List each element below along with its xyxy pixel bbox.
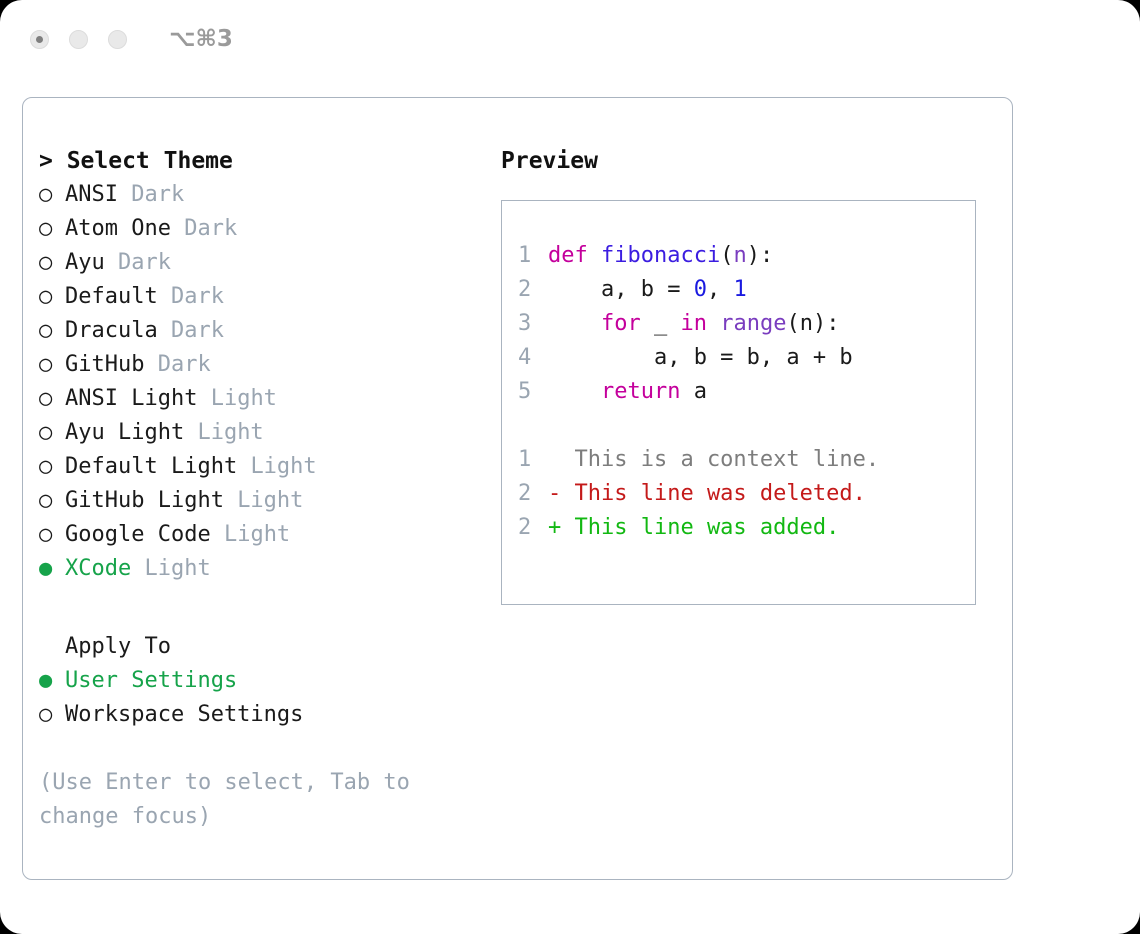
code-diff-gap <box>518 409 975 443</box>
radio-selected-icon: ● <box>39 552 65 586</box>
diff-line-text: - This line was deleted. <box>548 481 866 506</box>
radio-unselected-icon: ○ <box>39 382 65 416</box>
apply-to-option-label: Workspace Settings <box>65 702 303 727</box>
keyboard-hint-text: (Use Enter to select, Tab to change focu… <box>39 766 439 834</box>
theme-option-category: Light <box>197 420 263 445</box>
window-dot-active-icon[interactable] <box>30 30 49 49</box>
radio-unselected-icon: ○ <box>39 178 65 212</box>
theme-option-ayu-light[interactable]: ○Ayu Light Light <box>39 416 479 450</box>
theme-option-label: Ayu Light <box>65 420 197 445</box>
theme-option-label: XCode <box>65 556 144 581</box>
diff-line-text: This is a context line. <box>548 447 879 472</box>
code-token: (n): <box>786 311 839 336</box>
theme-option-ansi[interactable]: ○ANSI Dark <box>39 178 479 212</box>
theme-option-label: Google Code <box>65 522 224 547</box>
theme-option-default-light[interactable]: ○Default Light Light <box>39 450 479 484</box>
theme-option-category: Light <box>224 522 290 547</box>
code-token: a <box>680 379 707 404</box>
theme-option-list: ○ANSI Dark○Atom One Dark○Ayu Dark○Defaul… <box>39 178 479 586</box>
theme-option-ansi-light[interactable]: ○ANSI Light Light <box>39 382 479 416</box>
code-token: _ <box>641 311 681 336</box>
code-token: a, b = <box>548 277 694 302</box>
radio-unselected-icon: ○ <box>39 416 65 450</box>
diff-sample: 1 This is a context line.2- This line wa… <box>518 443 975 545</box>
keyboard-shortcut-label: ⌥⌘3 <box>169 26 233 52</box>
radio-unselected-icon: ○ <box>39 450 65 484</box>
code-token: 0 <box>694 277 707 302</box>
theme-option-category: Light <box>237 488 303 513</box>
window-dot-second-icon[interactable] <box>69 30 88 49</box>
code-line: 5 return a <box>518 375 975 409</box>
code-line: 3 for _ in range(n): <box>518 307 975 341</box>
theme-option-google-code[interactable]: ○Google Code Light <box>39 518 479 552</box>
code-line-number: 5 <box>518 375 548 409</box>
diff-line-number: 2 <box>518 477 548 511</box>
apply-to-option-label: User Settings <box>65 668 237 693</box>
code-line: 4 a, b = b, a + b <box>518 341 975 375</box>
theme-option-atom-one[interactable]: ○Atom One Dark <box>39 212 479 246</box>
theme-option-label: Default <box>65 284 171 309</box>
code-token: ( <box>720 243 733 268</box>
theme-option-category: Dark <box>184 216 237 241</box>
theme-picker-column: > Select Theme ○ANSI Dark○Atom One Dark○… <box>39 144 479 834</box>
code-line-number: 2 <box>518 273 548 307</box>
app-window: ⌥⌘3 > Select Theme ○ANSI Dark○Atom One D… <box>0 0 1140 934</box>
window-controls <box>30 30 127 49</box>
preview-title: Preview <box>501 144 1001 178</box>
theme-option-label: ANSI Light <box>65 386 211 411</box>
theme-option-category: Dark <box>118 250 171 275</box>
list-spacer <box>39 586 479 630</box>
theme-option-category: Dark <box>131 182 184 207</box>
radio-unselected-icon: ○ <box>39 314 65 348</box>
main-panel: > Select Theme ○ANSI Dark○Atom One Dark○… <box>22 97 1013 880</box>
theme-option-label: GitHub <box>65 352 158 377</box>
theme-option-label: Dracula <box>65 318 171 343</box>
theme-option-label: Ayu <box>65 250 118 275</box>
theme-option-label: GitHub Light <box>65 488 237 513</box>
code-line: 1def fibonacci(n): <box>518 239 975 273</box>
apply-to-option-user-settings[interactable]: ●User Settings <box>39 664 479 698</box>
theme-option-category: Dark <box>158 352 211 377</box>
radio-unselected-icon: ○ <box>39 348 65 382</box>
theme-option-default[interactable]: ○Default Dark <box>39 280 479 314</box>
theme-option-label: ANSI <box>65 182 131 207</box>
theme-option-category: Dark <box>171 284 224 309</box>
code-token: return <box>601 379 680 404</box>
select-theme-header: > Select Theme <box>39 144 479 178</box>
diff-line-number: 2 <box>518 511 548 545</box>
radio-unselected-icon: ○ <box>39 246 65 280</box>
theme-option-category: Light <box>211 386 277 411</box>
window-dot-active-inner-icon <box>36 36 43 43</box>
theme-option-ayu[interactable]: ○Ayu Dark <box>39 246 479 280</box>
apply-to-option-workspace-settings[interactable]: ○Workspace Settings <box>39 698 479 732</box>
code-line-number: 1 <box>518 239 548 273</box>
window-dot-third-icon[interactable] <box>108 30 127 49</box>
code-token <box>548 311 601 336</box>
theme-option-dracula[interactable]: ○Dracula Dark <box>39 314 479 348</box>
diff-line-del: 2- This line was deleted. <box>518 477 975 511</box>
radio-selected-icon: ● <box>39 664 65 698</box>
code-token: , <box>707 277 734 302</box>
theme-option-category: Dark <box>171 318 224 343</box>
theme-option-label: Atom One <box>65 216 184 241</box>
code-line: 2 a, b = 0, 1 <box>518 273 975 307</box>
code-token <box>548 379 601 404</box>
hint-spacer <box>39 732 479 766</box>
radio-unselected-icon: ○ <box>39 280 65 314</box>
theme-option-xcode[interactable]: ●XCode Light <box>39 552 479 586</box>
diff-line-add: 2+ This line was added. <box>518 511 975 545</box>
preview-column: Preview 1def fibonacci(n):2 a, b = 0, 13… <box>501 144 1001 605</box>
code-token: 1 <box>733 277 746 302</box>
code-line-number: 3 <box>518 307 548 341</box>
diff-line-number: 1 <box>518 443 548 477</box>
theme-option-category: Light <box>250 454 316 479</box>
theme-option-category: Light <box>144 556 210 581</box>
radio-unselected-icon: ○ <box>39 484 65 518</box>
theme-option-github-light[interactable]: ○GitHub Light Light <box>39 484 479 518</box>
radio-unselected-icon: ○ <box>39 212 65 246</box>
code-token: a, b = b, a + b <box>548 345 853 370</box>
code-token: in <box>680 311 707 336</box>
code-line-number: 4 <box>518 341 548 375</box>
diff-line-text: + This line was added. <box>548 515 839 540</box>
code-token: fibonacci <box>601 243 720 268</box>
apply-to-option-list: ●User Settings○Workspace Settings <box>39 664 479 732</box>
code-token <box>707 311 720 336</box>
radio-unselected-icon: ○ <box>39 518 65 552</box>
title-bar: ⌥⌘3 <box>0 0 1140 78</box>
code-token: n <box>733 243 746 268</box>
radio-unselected-icon: ○ <box>39 698 65 732</box>
code-token: range <box>720 311 786 336</box>
code-token: def <box>548 243 601 268</box>
diff-line-ctx: 1 This is a context line. <box>518 443 975 477</box>
theme-option-label: Default Light <box>65 454 250 479</box>
code-sample: 1def fibonacci(n):2 a, b = 0, 13 for _ i… <box>518 239 975 409</box>
code-token: ): <box>747 243 774 268</box>
preview-code-box: 1def fibonacci(n):2 a, b = 0, 13 for _ i… <box>501 200 976 605</box>
theme-option-github[interactable]: ○GitHub Dark <box>39 348 479 382</box>
apply-to-title: Apply To <box>39 630 479 664</box>
code-token: for <box>601 311 641 336</box>
